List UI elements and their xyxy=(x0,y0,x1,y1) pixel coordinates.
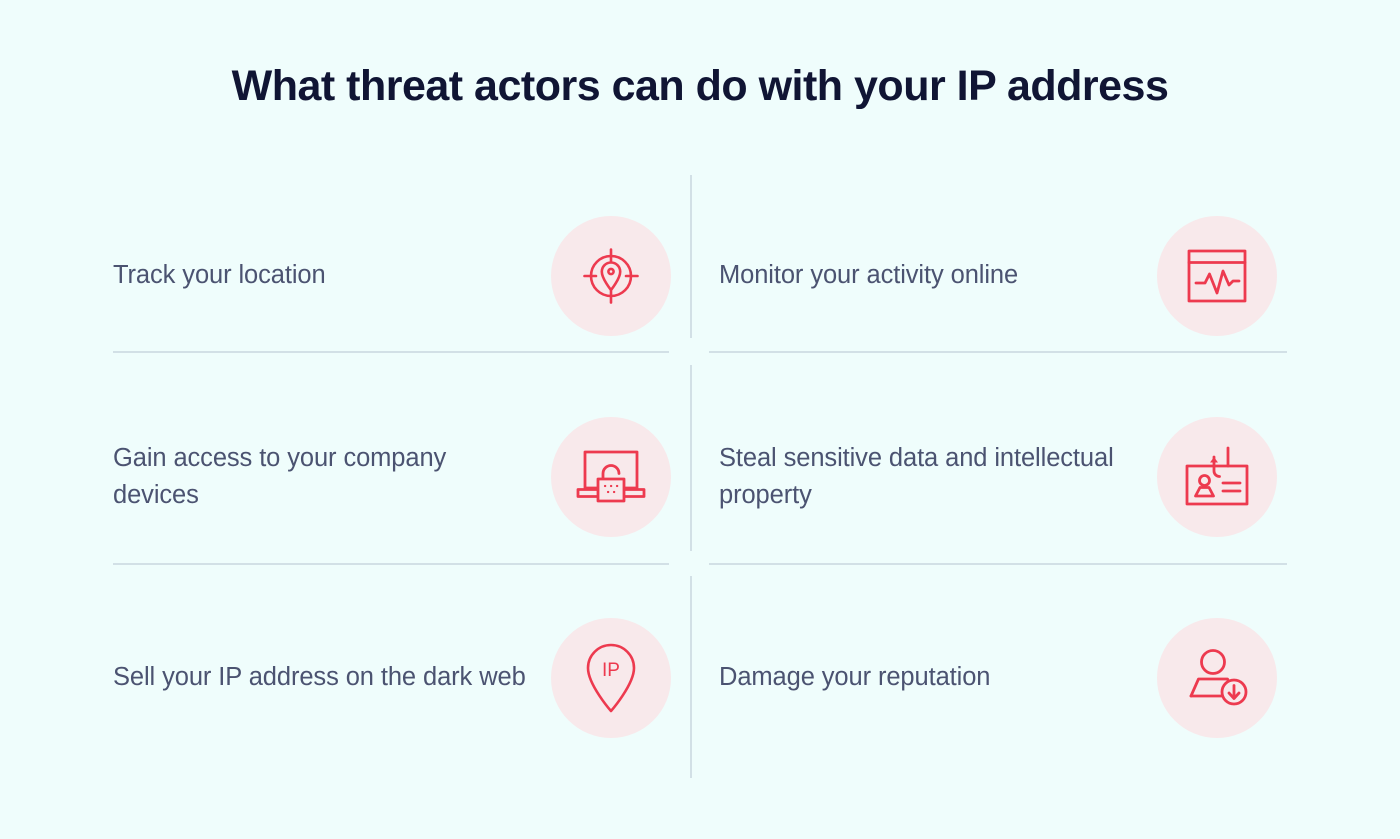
icon-badge: IP xyxy=(551,618,671,738)
icon-badge xyxy=(1157,417,1277,537)
location-target-icon xyxy=(579,244,643,308)
grid-item-label: Monitor your activity online xyxy=(719,257,1157,293)
divider-vertical xyxy=(690,576,692,778)
grid-item-track-location: Track your location xyxy=(113,175,681,376)
icon-badge xyxy=(551,417,671,537)
grid-item-sell-ip-dark-web: Sell your IP address on the dark web IP xyxy=(113,577,681,778)
threat-grid: Track your location Monitor your activit… xyxy=(113,175,1287,778)
ip-map-pin-icon: IP xyxy=(585,642,637,714)
grid-item-label: Gain access to your company devices xyxy=(113,440,551,512)
grid-item-steal-data: Steal sensitive data and intellectual pr… xyxy=(719,376,1287,577)
grid-item-monitor-activity: Monitor your activity online xyxy=(719,175,1287,376)
ip-pin-label: IP xyxy=(602,660,620,681)
grid-item-label: Damage your reputation xyxy=(719,659,1157,695)
icon-badge xyxy=(1157,618,1277,738)
id-card-phishing-hook-icon xyxy=(1183,445,1251,509)
page-title: What threat actors can do with your IP a… xyxy=(0,62,1400,111)
divider-vertical xyxy=(690,175,692,338)
divider-horizontal xyxy=(709,351,1287,353)
grid-item-label: Track your location xyxy=(113,257,551,293)
grid-item-label: Sell your IP address on the dark web xyxy=(113,659,551,695)
divider-horizontal xyxy=(113,351,669,353)
icon-badge xyxy=(1157,216,1277,336)
grid-item-damage-reputation: Damage your reputation xyxy=(719,577,1287,778)
activity-monitor-icon xyxy=(1186,247,1248,305)
grid-item-company-devices: Gain access to your company devices xyxy=(113,376,681,577)
unlocked-laptop-icon xyxy=(576,448,646,506)
divider-vertical xyxy=(690,365,692,551)
user-reputation-down-icon xyxy=(1184,647,1250,709)
icon-badge xyxy=(551,216,671,336)
grid-item-label: Steal sensitive data and intellectual pr… xyxy=(719,440,1157,512)
divider-horizontal xyxy=(113,563,669,565)
divider-horizontal xyxy=(709,563,1287,565)
